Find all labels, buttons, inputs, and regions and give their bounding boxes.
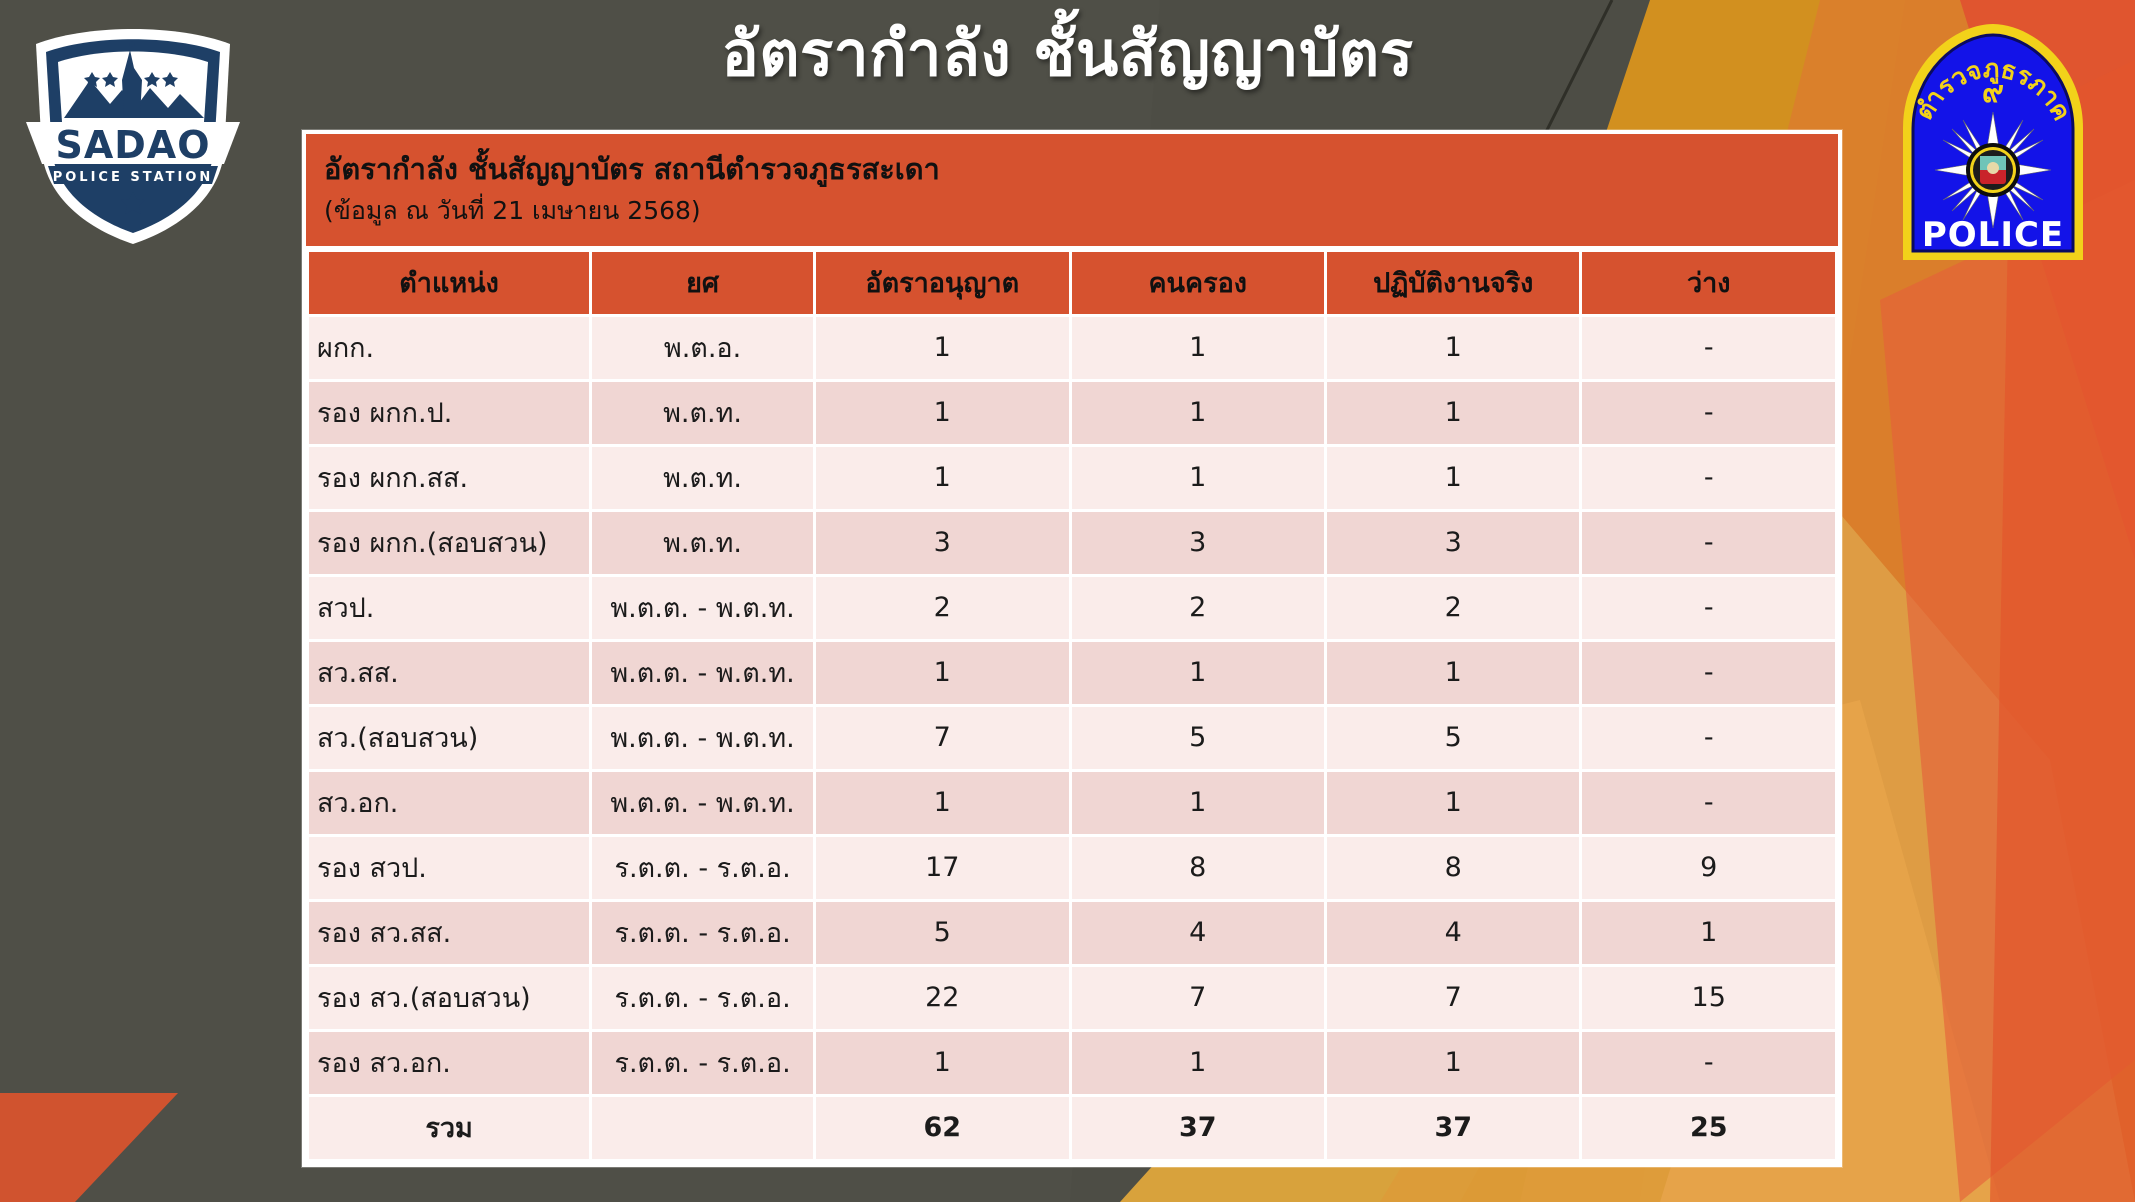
cell-active: 7 [1327,967,1579,1029]
cell-vacant: - [1582,447,1835,509]
cell-position: สว.(สอบสวน) [309,707,589,769]
cell-rank: พ.ต.ต. - พ.ต.ท. [592,642,813,704]
cell-vacant: - [1582,512,1835,574]
cell-allowed: 17 [816,837,1068,899]
cell-rank [592,1097,813,1159]
cell-vacant: 1 [1582,902,1835,964]
column-header-position: ตำแหน่ง [309,252,589,314]
column-header-vacant: ว่าง [1582,252,1835,314]
sadao-police-station-logo: SADAO POLICE STATION [18,14,248,252]
column-header-active: ปฏิบัติงานจริง [1327,252,1579,314]
cell-vacant: 25 [1582,1097,1835,1159]
cell-vacant: - [1582,317,1835,379]
table-row: รอง ผกก.ป.พ.ต.ท.111- [309,382,1835,444]
table-total-row: รวม62373725 [309,1097,1835,1159]
table-body: ผกก.พ.ต.อ.111-รอง ผกก.ป.พ.ต.ท.111-รอง ผก… [309,317,1835,1159]
cell-held: 37 [1072,1097,1324,1159]
cell-held: 1 [1072,772,1324,834]
cell-position: สวป. [309,577,589,639]
cell-held: 1 [1072,447,1324,509]
starburst-emblem [1935,112,2051,228]
cell-active: 1 [1327,382,1579,444]
slide-canvas: อัตรากำลัง ชั้นสัญญาบัตร [0,0,2135,1202]
cell-rank: พ.ต.ท. [592,382,813,444]
police-station-wordmark: POLICE STATION [53,170,214,185]
cell-active: 1 [1327,447,1579,509]
cell-position: สว.สส. [309,642,589,704]
cell-vacant: - [1582,382,1835,444]
cell-rank: ร.ต.ต. - ร.ต.อ. [592,837,813,899]
cell-held: 1 [1072,382,1324,444]
cell-active: 1 [1327,317,1579,379]
table-row: รอง ผกก.(สอบสวน)พ.ต.ท.333- [309,512,1835,574]
cell-active: 1 [1327,1032,1579,1094]
cell-position: รอง ผกก.ป. [309,382,589,444]
table-row: สวป.พ.ต.ต. - พ.ต.ท.222- [309,577,1835,639]
table-row: รอง สว.(สอบสวน)ร.ต.ต. - ร.ต.อ.227715 [309,967,1835,1029]
cell-position: รอง ผกก.สส. [309,447,589,509]
cell-active: 37 [1327,1097,1579,1159]
card-subheading: (ข้อมูล ณ วันที่ 21 เมษายน 2568) [324,195,1820,228]
cell-allowed: 1 [816,1032,1068,1094]
cell-held: 2 [1072,577,1324,639]
badge-numeral: ๙ [1982,75,2004,110]
cell-active: 1 [1327,642,1579,704]
cell-vacant: 9 [1582,837,1835,899]
cell-rank: ร.ต.ต. - ร.ต.อ. [592,967,813,1029]
cell-position: รอง สว.สส. [309,902,589,964]
cell-allowed: 22 [816,967,1068,1029]
cell-held: 1 [1072,1032,1324,1094]
cell-position: รอง สว.อก. [309,1032,589,1094]
cell-held: 4 [1072,902,1324,964]
column-header-allowed: อัตราอนุญาต [816,252,1068,314]
cell-vacant: - [1582,577,1835,639]
sadao-wordmark: SADAO [55,123,210,167]
cell-allowed: 5 [816,902,1068,964]
cell-held: 1 [1072,317,1324,379]
cell-allowed: 1 [816,382,1068,444]
card-heading: อัตรากำลัง ชั้นสัญญาบัตร สถานีตำรวจภูธรส… [324,150,1820,189]
cell-rank: พ.ต.อ. [592,317,813,379]
table-row: ผกก.พ.ต.อ.111- [309,317,1835,379]
column-header-held: คนครอง [1072,252,1324,314]
provincial-police-region-9-badge: ตำรวจภูธรภาค ๙ [1859,2,2127,274]
table-row: รอง สวป.ร.ต.ต. - ร.ต.อ.17889 [309,837,1835,899]
cell-allowed: 1 [816,772,1068,834]
cell-held: 5 [1072,707,1324,769]
table-row: สว.(สอบสวน)พ.ต.ต. - พ.ต.ท.755- [309,707,1835,769]
cell-position: รวม [309,1097,589,1159]
table-row: รอง สว.สส.ร.ต.ต. - ร.ต.อ.5441 [309,902,1835,964]
cell-rank: พ.ต.ต. - พ.ต.ท. [592,772,813,834]
cell-vacant: - [1582,642,1835,704]
cell-position: ผกก. [309,317,589,379]
cell-allowed: 7 [816,707,1068,769]
cell-rank: พ.ต.ท. [592,512,813,574]
table-row: สว.อก.พ.ต.ต. - พ.ต.ท.111- [309,772,1835,834]
cell-allowed: 1 [816,447,1068,509]
cell-allowed: 1 [816,642,1068,704]
cell-active: 3 [1327,512,1579,574]
cell-vacant: 15 [1582,967,1835,1029]
cell-active: 8 [1327,837,1579,899]
cell-held: 8 [1072,837,1324,899]
cell-active: 1 [1327,772,1579,834]
cell-rank: พ.ต.ต. - พ.ต.ท. [592,577,813,639]
cell-held: 3 [1072,512,1324,574]
cell-position: รอง ผกก.(สอบสวน) [309,512,589,574]
table-row: สว.สส.พ.ต.ต. - พ.ต.ท.111- [309,642,1835,704]
cell-position: รอง สวป. [309,837,589,899]
cell-held: 7 [1072,967,1324,1029]
cell-active: 4 [1327,902,1579,964]
cell-rank: พ.ต.ท. [592,447,813,509]
cell-allowed: 62 [816,1097,1068,1159]
table-row: รอง สว.อก.ร.ต.ต. - ร.ต.อ.111- [309,1032,1835,1094]
cell-vacant: - [1582,772,1835,834]
cell-rank: พ.ต.ต. - พ.ต.ท. [592,707,813,769]
cell-allowed: 2 [816,577,1068,639]
cell-position: รอง สว.(สอบสวน) [309,967,589,1029]
cell-vacant: - [1582,707,1835,769]
table-header-row: ตำแหน่ง ยศ อัตราอนุญาต คนครอง ปฏิบัติงาน… [309,252,1835,314]
cell-rank: ร.ต.ต. - ร.ต.อ. [592,902,813,964]
card-header: อัตรากำลัง ชั้นสัญญาบัตร สถานีตำรวจภูธรส… [306,134,1838,246]
cell-active: 2 [1327,577,1579,639]
cell-allowed: 1 [816,317,1068,379]
cell-position: สว.อก. [309,772,589,834]
column-header-rank: ยศ [592,252,813,314]
roster-table: ตำแหน่ง ยศ อัตราอนุญาต คนครอง ปฏิบัติงาน… [306,249,1838,1162]
cell-allowed: 3 [816,512,1068,574]
table-row: รอง ผกก.สส.พ.ต.ท.111- [309,447,1835,509]
cell-vacant: - [1582,1032,1835,1094]
badge-bottom-text: POLICE [1922,215,2064,255]
roster-card: อัตรากำลัง ชั้นสัญญาบัตร สถานีตำรวจภูธรส… [302,130,1842,1167]
cell-held: 1 [1072,642,1324,704]
cell-active: 5 [1327,707,1579,769]
cell-rank: ร.ต.ต. - ร.ต.อ. [592,1032,813,1094]
